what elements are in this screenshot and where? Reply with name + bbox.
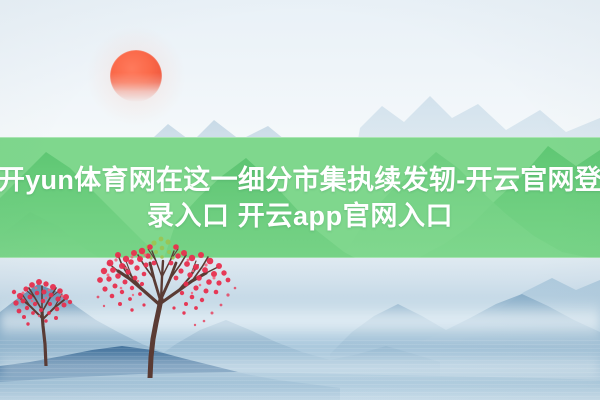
screenshot-canvas: 开yun体育网在这一细分市集执续发轫-开云官网登 录入口 开云app官网入口 bbox=[0, 0, 600, 400]
band-top-edge bbox=[0, 137, 600, 138]
blossom-tree-small bbox=[2, 268, 94, 366]
blossom-tree-large bbox=[88, 233, 238, 378]
